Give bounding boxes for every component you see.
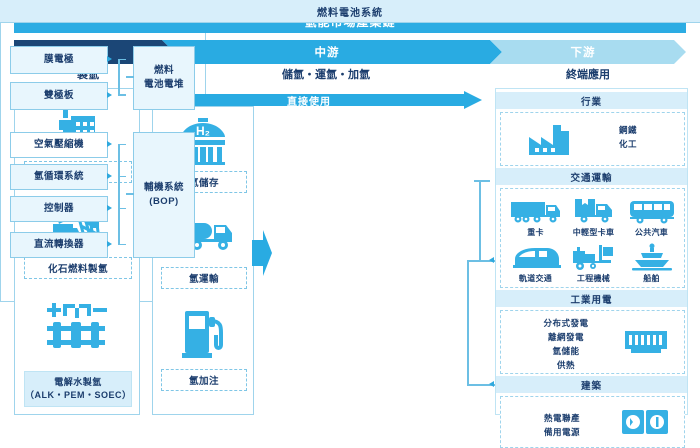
stage-chevron-band: 上游 中游 下游	[14, 40, 686, 64]
transport-label-heavy-truck: 重卡	[505, 227, 566, 238]
battery-bank-icon	[623, 327, 669, 357]
transport-item-bus[interactable]: 公共汽車	[621, 195, 682, 238]
diagram-canvas: 氫能市場產業鏈 上游 中游 下游 製氫 儲氫・運氫・加氫 終端應用 直接使用	[0, 0, 700, 428]
midstream-item-refueling[interactable]: 氫加注	[161, 369, 247, 391]
bop-connector-r2	[118, 176, 126, 178]
stage-sublabel-row: 製氫 儲氫・運氫・加氫 終端應用	[14, 66, 686, 84]
core-component-dc-converter[interactable]: 直流轉換器	[10, 232, 108, 258]
upstream-item-water-electrolysis[interactable]: 電解水製氫 （ALK・PEM・SOEC）	[24, 371, 132, 407]
midstream-item-transport[interactable]: 氫運輸	[161, 267, 247, 289]
bop-connector-vertical	[118, 144, 120, 244]
bop-connector-r4	[118, 244, 126, 246]
building-power-icon	[621, 409, 669, 435]
fuel-dispenser-icon	[161, 303, 245, 363]
core-fuel-cell-stack[interactable]: 燃料 電池電堆	[133, 46, 195, 110]
stage-label-downstream: 下游	[571, 44, 596, 60]
upstream-item-fossil-fuel[interactable]: 化石燃料製氫	[24, 257, 132, 279]
core-to-downstream-line-e	[479, 180, 481, 260]
flow-arrow-to-core	[252, 230, 272, 276]
stack-connector-right	[126, 76, 134, 78]
stack-connector-bottom	[118, 94, 126, 96]
bop-arrow-4	[107, 241, 112, 247]
industry-item-steel[interactable]: 鋼鐵	[593, 123, 663, 137]
downstream-header-building: 建築	[496, 376, 687, 393]
power-item-offgrid[interactable]: 離網發電	[523, 330, 609, 344]
svg-text:H₂: H₂	[196, 124, 210, 138]
core-component-hydrogen-recirculation[interactable]: 氫循環系統	[10, 164, 108, 190]
bop-connector-r3	[118, 208, 126, 210]
transport-item-rail[interactable]: 軌道交通	[505, 241, 566, 284]
transport-item-construction[interactable]: 工程機械	[563, 241, 624, 284]
bop-connector-r1	[118, 144, 126, 146]
downstream-arrow-power	[489, 257, 494, 263]
stack-label-line1: 燃料	[154, 64, 174, 78]
bop-arrow-1	[107, 141, 112, 147]
electrolysis-sublabel: （ALK・PEM・SOEC）	[25, 389, 131, 403]
downstream-industry-items: 鋼鐵 化工	[593, 123, 663, 151]
industrial-power-items: 分布式發電 離網發電 氫儲能 供熱	[523, 316, 609, 372]
fuel-cell-system-header: 燃料電池系統	[0, 0, 700, 23]
downstream-column: 行業 鋼鐵 化工 交通運輸	[495, 88, 688, 415]
forklift-icon	[563, 241, 624, 271]
core-component-controller[interactable]: 控制器	[10, 196, 108, 222]
power-item-storage[interactable]: 氫儲能	[523, 344, 609, 358]
bus-icon	[621, 195, 682, 225]
factory-plant-icon	[527, 121, 571, 157]
core-component-bipolar-plate[interactable]: 雙極板	[10, 82, 108, 110]
direct-use-label: 直接使用	[287, 93, 331, 108]
stack-arrow-bottom	[107, 92, 112, 98]
transport-item-light-truck[interactable]: 中輕型卡車	[563, 195, 624, 238]
bop-label-line2: (BOP)	[149, 195, 178, 209]
downstream-header-transport: 交通運輸	[496, 168, 687, 185]
building-item-backup[interactable]: 備用電源	[519, 425, 605, 439]
bop-arrow-2	[107, 173, 112, 179]
power-item-distributed[interactable]: 分布式發電	[523, 316, 609, 330]
core-bop-system[interactable]: 輔機系統 (BOP)	[133, 132, 195, 258]
stage-sublabel-midstream: 儲氫・運氫・加氫	[162, 66, 490, 82]
downstream-section-transport: 重卡	[500, 188, 685, 288]
stack-arrow-top	[107, 56, 112, 62]
light-truck-icon	[563, 195, 624, 225]
core-to-downstream-line-a	[474, 180, 490, 182]
industry-item-chemical[interactable]: 化工	[593, 137, 663, 151]
stage-label-midstream: 中游	[315, 44, 340, 60]
train-icon	[505, 241, 566, 271]
stage-chevron-downstream: 下游	[490, 40, 686, 64]
transport-label-light-truck: 中輕型卡車	[563, 227, 624, 238]
transport-label-rail: 軌道交通	[505, 273, 566, 284]
power-item-heat[interactable]: 供熱	[523, 358, 609, 372]
transport-item-heavy-truck[interactable]: 重卡	[505, 195, 566, 238]
downstream-section-building: 熱電聯產 備用電源	[500, 396, 685, 448]
bop-label-line1: 輔機系統	[144, 181, 184, 195]
building-items: 熱電聯產 備用電源	[519, 411, 605, 439]
building-item-chp[interactable]: 熱電聯產	[519, 411, 605, 425]
core-to-downstream-line-c	[467, 260, 469, 385]
heavy-truck-icon	[505, 195, 566, 225]
downstream-header-industry: 行業	[496, 92, 687, 109]
stack-label-line2: 電池電堆	[144, 78, 184, 92]
ship-icon	[621, 241, 682, 271]
stage-sublabel-downstream: 終端應用	[490, 66, 686, 82]
electrolyzer-icon	[24, 289, 130, 367]
transport-label-ship: 船舶	[621, 273, 682, 284]
downstream-arrow-building	[489, 381, 494, 387]
bop-arrow-3	[107, 205, 112, 211]
downstream-header-industrial-power: 工業用電	[496, 290, 687, 307]
stage-chevron-midstream: 中游	[162, 40, 502, 64]
bop-connector-right	[126, 193, 134, 195]
transport-label-construction: 工程機械	[563, 273, 624, 284]
core-component-membrane-electrode[interactable]: 膜電極	[10, 46, 108, 74]
downstream-section-industry: 鋼鐵 化工	[500, 112, 685, 166]
core-component-air-compressor[interactable]: 空氣壓縮機	[10, 132, 108, 158]
stack-connector-vertical	[118, 59, 120, 95]
transport-label-bus: 公共汽車	[621, 227, 682, 238]
fuel-cell-system-panel: 燃料電池系統 膜電極 雙極板 燃料 電池電堆 空氣壓縮機 氫循環系統 控制器 直…	[0, 0, 206, 302]
electrolysis-label: 電解水製氫	[54, 376, 102, 390]
downstream-section-industrial-power: 分布式發電 離網發電 氫儲能 供熱	[500, 310, 685, 374]
transport-item-ship[interactable]: 船舶	[621, 241, 682, 284]
stack-connector-top	[118, 59, 126, 61]
